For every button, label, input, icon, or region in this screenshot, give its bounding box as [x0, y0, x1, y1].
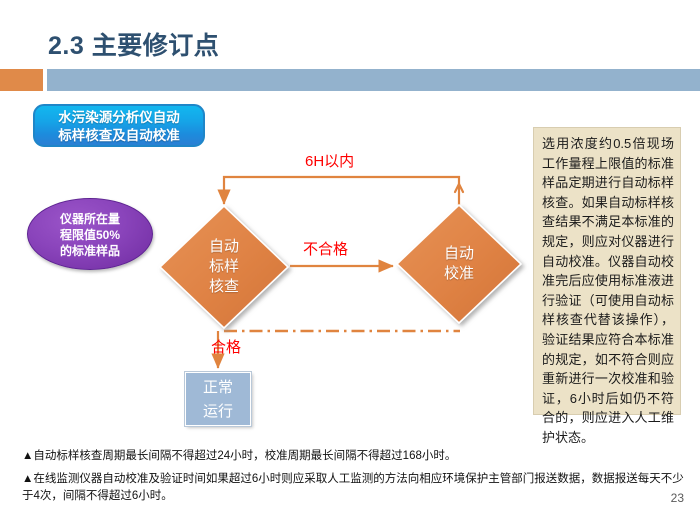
- check-line-2: 标样: [209, 257, 239, 277]
- page-number: 23: [671, 491, 684, 505]
- calibrate-line-2: 校准: [444, 264, 474, 284]
- flow-node-check: 自动 标样 核查: [160, 206, 288, 328]
- sample-ellipse-line-3: 的标准样品: [28, 243, 152, 259]
- normal-run-line-1: 正常: [186, 376, 250, 400]
- connector-return-uptick: [455, 184, 463, 192]
- flow-node-normal-run: 正常 运行: [185, 372, 251, 426]
- standard-sample-ellipse: 仪器所在量 程限值50% 的标准样品: [27, 198, 153, 270]
- title-rule-orange-block: [0, 69, 43, 91]
- sample-ellipse-line-1: 仪器所在量: [28, 211, 152, 227]
- page-title: 2.3 主要修订点: [48, 26, 219, 62]
- sample-ellipse-line-2: 程限值50%: [28, 227, 152, 243]
- normal-run-line-2: 运行: [186, 400, 250, 424]
- flow-node-calibrate: 自动 校准: [397, 205, 521, 323]
- title-rule-blue-bar: [47, 69, 700, 91]
- note-panel: 选用浓度约0.5倍现场工作量程上限值的标准样品定期进行自动标样核查。如果自动标样…: [533, 127, 681, 415]
- topic-chip-line-2: 标样核查及自动校准: [35, 127, 203, 145]
- topic-chip-line-1: 水污染源分析仪自动: [35, 109, 203, 127]
- connector-return-6h: [224, 177, 459, 205]
- calibrate-line-1: 自动: [444, 244, 474, 264]
- check-line-3: 核查: [209, 277, 239, 297]
- footnote-2: ▲在线监测仪器自动校准及验证时间如果超过6小时则应采取人工监测的方法向相应环境保…: [22, 471, 686, 505]
- footnote-1: ▲自动标样核查周期最长间隔不得超过24小时，校准周期最长间隔不得超过168小时。: [22, 448, 682, 465]
- flow-node-check-label: 自动 标样 核查: [160, 206, 288, 328]
- flow-node-calibrate-label: 自动 校准: [397, 205, 521, 323]
- edge-label-fail: 不合格: [303, 238, 348, 259]
- edge-label-within-6h: 6H以内: [305, 150, 354, 171]
- check-line-1: 自动: [209, 237, 239, 257]
- edge-label-pass: 合格: [211, 336, 241, 357]
- topic-chip: 水污染源分析仪自动 标样核查及自动校准: [33, 104, 205, 147]
